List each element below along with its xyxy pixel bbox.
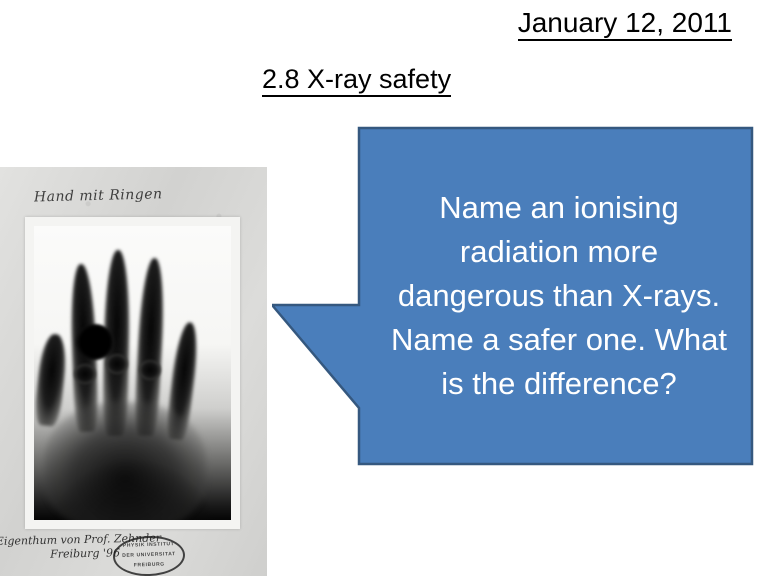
knuckle-joint	[139, 360, 161, 380]
slide-date: January 12, 2011	[262, 6, 732, 40]
knuckle-joint	[106, 354, 128, 374]
speech-bubble-callout: Name an ionising radiation more dangerou…	[272, 126, 754, 466]
photographic-print	[25, 217, 240, 529]
xray-photograph-figure: Hand mit Ringen	[0, 167, 267, 576]
radiograph-image	[34, 226, 231, 520]
wedding-ring	[76, 324, 114, 360]
page-title-text: 2.8 X-ray safety	[262, 64, 451, 97]
stamp-line-3: FREIBURG	[115, 561, 183, 569]
stamp-line-2: DER UNIVERSITAT	[115, 551, 183, 559]
stamp-line-1: PHYSIK INSTITUT	[115, 541, 183, 549]
slide-date-text: January 12, 2011	[518, 7, 732, 41]
knuckle-joint	[74, 364, 96, 384]
callout-question-text: Name an ionising radiation more dangerou…	[378, 144, 740, 448]
thumb-bone	[34, 333, 69, 427]
palm-shadow	[44, 402, 206, 520]
page-title: 2.8 X-ray safety	[262, 62, 451, 96]
slide-canvas: January 12, 2011 2.8 X-ray safety Name a…	[0, 0, 768, 576]
